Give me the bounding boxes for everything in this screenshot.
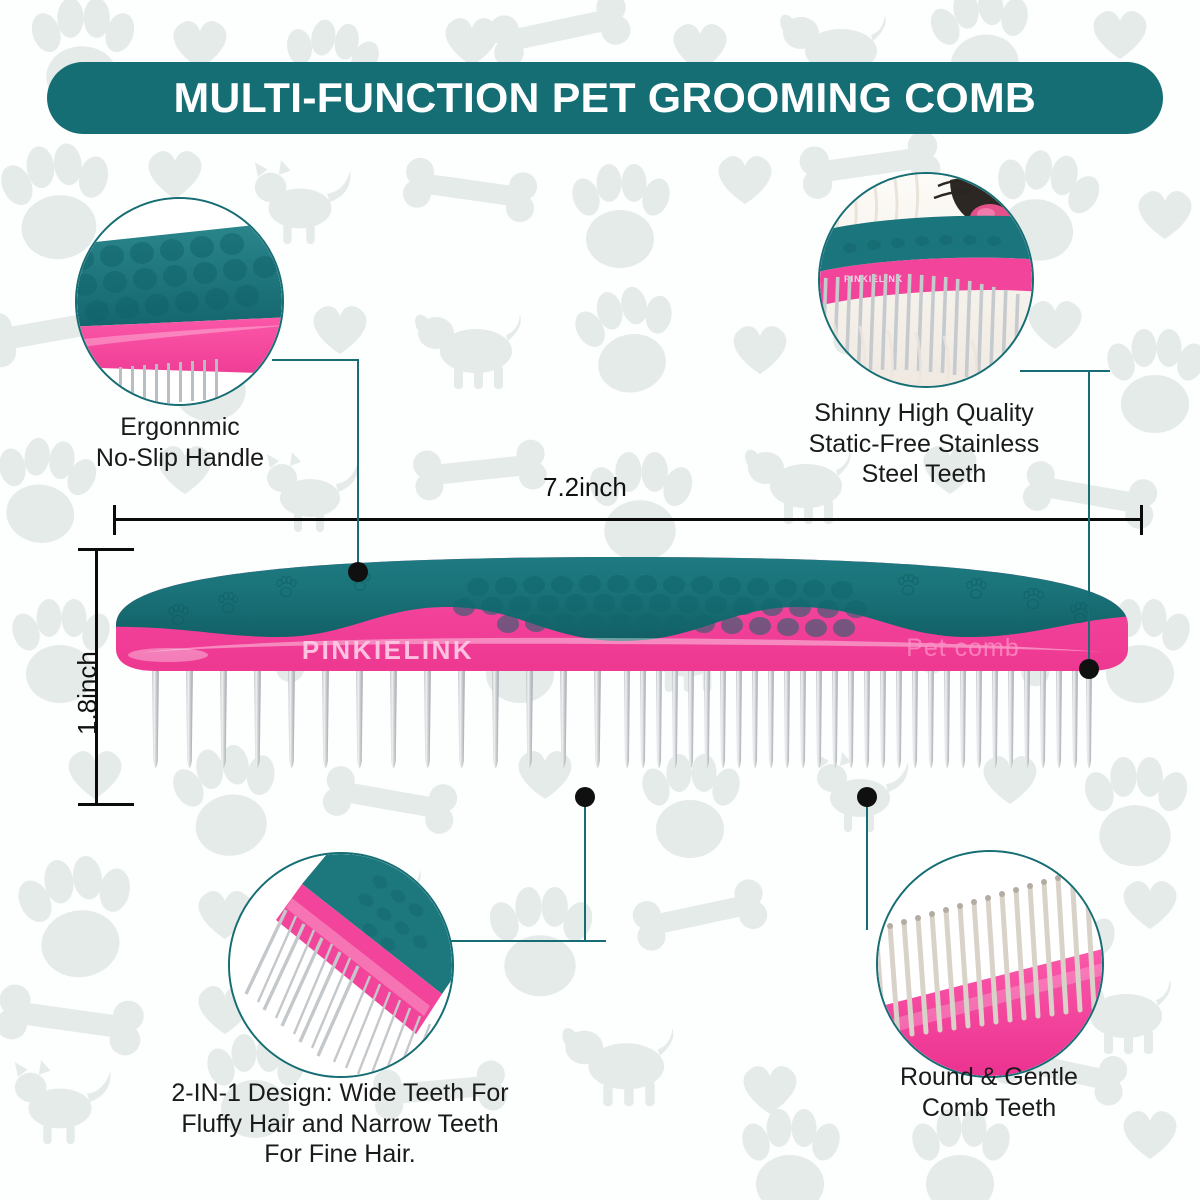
callout-line: Ergonnmic bbox=[70, 412, 290, 443]
leader-line-ergonomic-v bbox=[357, 359, 359, 571]
dimension-label-height: 1.8inch bbox=[72, 651, 103, 735]
dimension-line-length bbox=[113, 518, 1143, 521]
callout-line: For Fine Hair. bbox=[120, 1139, 560, 1170]
leader-line-ergonomic-h bbox=[272, 359, 359, 361]
leader-line-stainless-v bbox=[1088, 370, 1090, 673]
callout-image-two-in-one-design bbox=[228, 852, 454, 1078]
page-title: MULTI-FUNCTION PET GROOMING COMB bbox=[174, 74, 1036, 122]
callout-line: No-Slip Handle bbox=[70, 443, 290, 474]
callout-line: Round & Gentle bbox=[860, 1062, 1118, 1093]
callout-line: Steel Teeth bbox=[778, 459, 1070, 490]
comb-teeth-wide bbox=[152, 661, 601, 768]
infographic-canvas: MULTI-FUNCTION PET GROOMING COMB bbox=[0, 0, 1200, 1200]
leader-dot-stainless bbox=[1079, 659, 1099, 679]
leader-dot-ergonomic bbox=[348, 562, 368, 582]
leader-line-stainless-h bbox=[1020, 370, 1110, 372]
callout-line: Shinny High Quality bbox=[778, 398, 1070, 429]
dimension-tick-left bbox=[113, 505, 116, 535]
callout-image-ergonomic-handle bbox=[75, 197, 284, 406]
callout-label-two-in-one-design: 2-IN-1 Design: Wide Teeth For Fluffy Hai… bbox=[120, 1078, 560, 1170]
callout-line: Static-Free Stainless bbox=[778, 429, 1070, 460]
dimension-tick-bottom bbox=[78, 803, 134, 806]
callout-line: 2-IN-1 Design: Wide Teeth For bbox=[120, 1078, 560, 1109]
sub-brand-label: Pet comb bbox=[906, 634, 1020, 662]
callout-line: Fluffy Hair and Narrow Teeth bbox=[120, 1109, 560, 1140]
leader-line-round-gentle-v bbox=[866, 802, 868, 930]
comb-teeth-fine bbox=[624, 661, 1092, 768]
callout-image-round-gentle-teeth bbox=[876, 850, 1104, 1078]
callout-label-ergonomic-handle: Ergonnmic No-Slip Handle bbox=[70, 412, 290, 473]
callout-image-stainless-teeth: PINKIELINK bbox=[818, 172, 1034, 388]
product-comb-illustration: PINKIELINK Pet comb bbox=[108, 545, 1136, 815]
dimension-tick-top bbox=[78, 548, 134, 551]
callout-label-round-gentle-teeth: Round & Gentle Comb Teeth bbox=[860, 1062, 1118, 1123]
callout-label-stainless-teeth: Shinny High Quality Static-Free Stainles… bbox=[778, 398, 1070, 490]
leader-line-two-in-one-v bbox=[584, 802, 586, 942]
page-title-banner: MULTI-FUNCTION PET GROOMING COMB bbox=[47, 62, 1163, 134]
callout-line: Comb Teeth bbox=[860, 1093, 1118, 1124]
leader-dot-round-gentle bbox=[857, 787, 877, 807]
leader-line-two-in-one-h bbox=[440, 940, 606, 942]
dimension-tick-right bbox=[1140, 505, 1143, 535]
dimension-label-length: 7.2inch bbox=[543, 472, 627, 503]
brand-label: PINKIELINK bbox=[302, 635, 474, 665]
leader-dot-two-in-one bbox=[575, 787, 595, 807]
